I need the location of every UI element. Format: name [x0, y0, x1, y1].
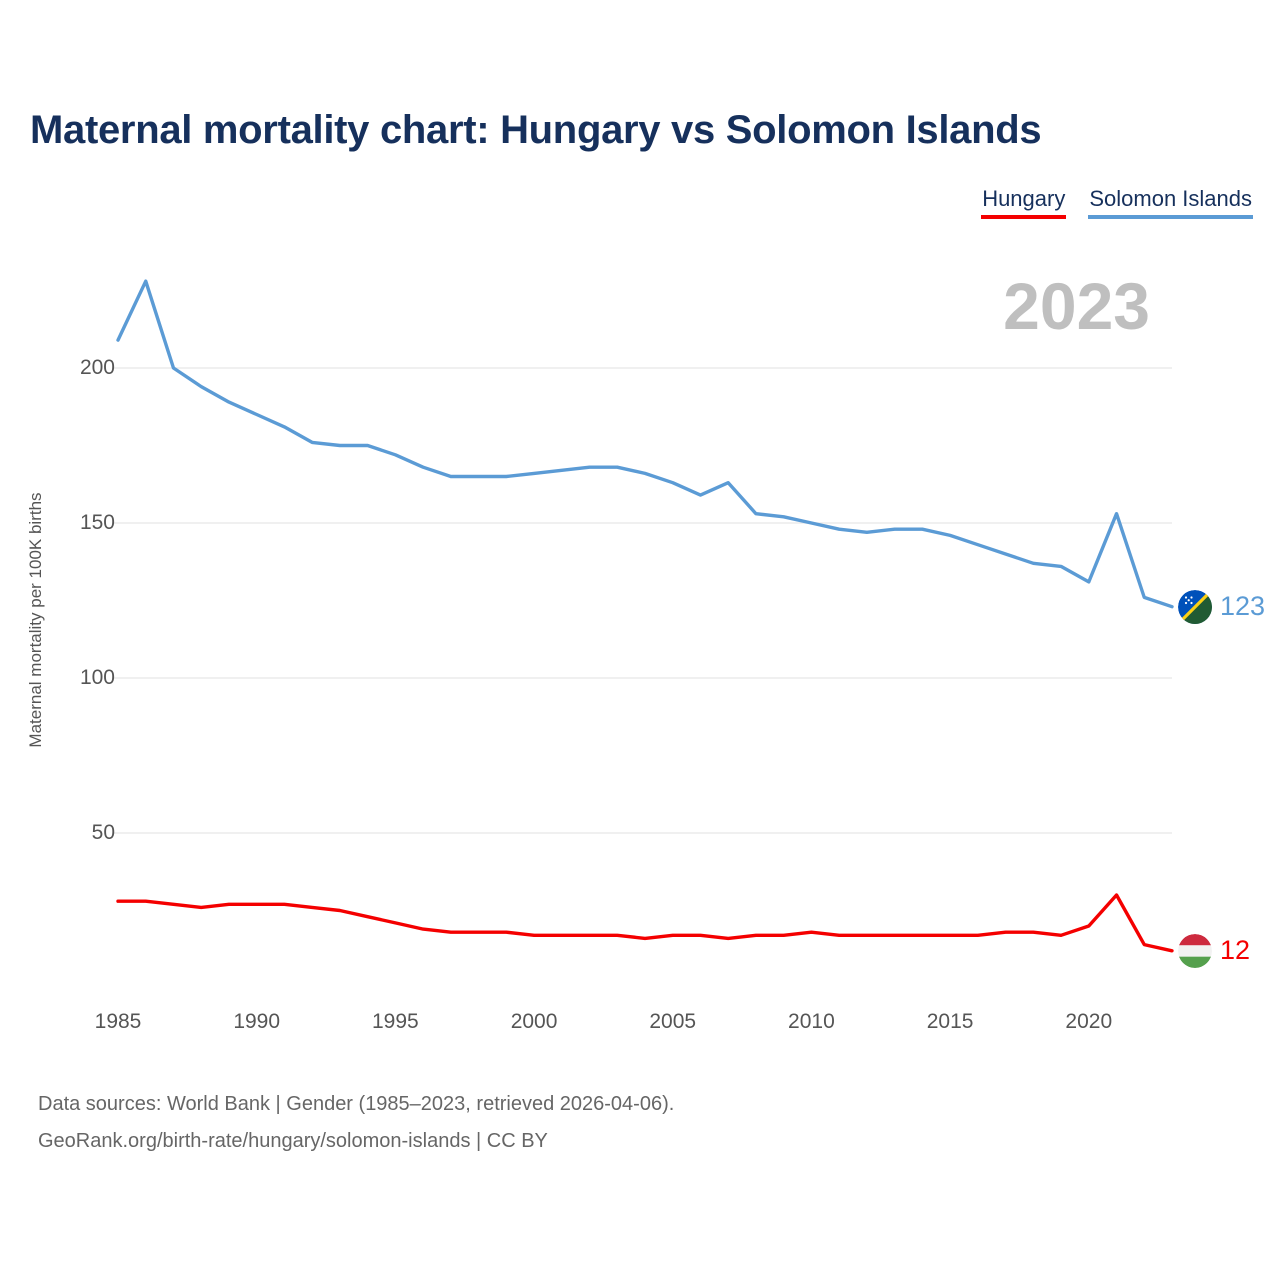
series-line-hungary	[118, 895, 1172, 951]
footer-line-1: Data sources: World Bank | Gender (1985–…	[38, 1086, 674, 1123]
x-axis-ticks: 19851990199520002005201020152020	[0, 1010, 1280, 1050]
y-tick-label: 100	[25, 666, 115, 690]
gridlines	[114, 368, 1172, 833]
endpoint-hungary: 12	[1178, 934, 1250, 968]
x-tick-label: 2000	[511, 1010, 558, 1034]
x-tick-label: 1995	[372, 1010, 419, 1034]
footer-line-2: GeoRank.org/birth-rate/hungary/solomon-i…	[38, 1123, 674, 1160]
chart-container: Maternal mortality chart: Hungary vs Sol…	[0, 0, 1280, 1280]
endpoint-value-hungary: 12	[1220, 937, 1250, 964]
hungary-flag-icon	[1178, 934, 1212, 968]
series-lines	[118, 281, 1172, 951]
x-tick-label: 2020	[1065, 1010, 1112, 1034]
endpoint-solomon-islands: 123	[1178, 590, 1265, 624]
y-tick-label: 50	[25, 821, 115, 845]
x-tick-label: 1985	[95, 1010, 142, 1034]
footer-sources: Data sources: World Bank | Gender (1985–…	[38, 1086, 674, 1160]
series-line-solomon-islands	[118, 281, 1172, 607]
y-tick-label: 150	[25, 511, 115, 535]
solomon-islands-flag-icon	[1178, 590, 1212, 624]
x-tick-label: 2005	[649, 1010, 696, 1034]
endpoint-value-solomon-islands: 123	[1220, 593, 1265, 620]
y-tick-label: 200	[25, 356, 115, 380]
x-tick-label: 2010	[788, 1010, 835, 1034]
x-tick-label: 1990	[233, 1010, 280, 1034]
x-tick-label: 2015	[927, 1010, 974, 1034]
